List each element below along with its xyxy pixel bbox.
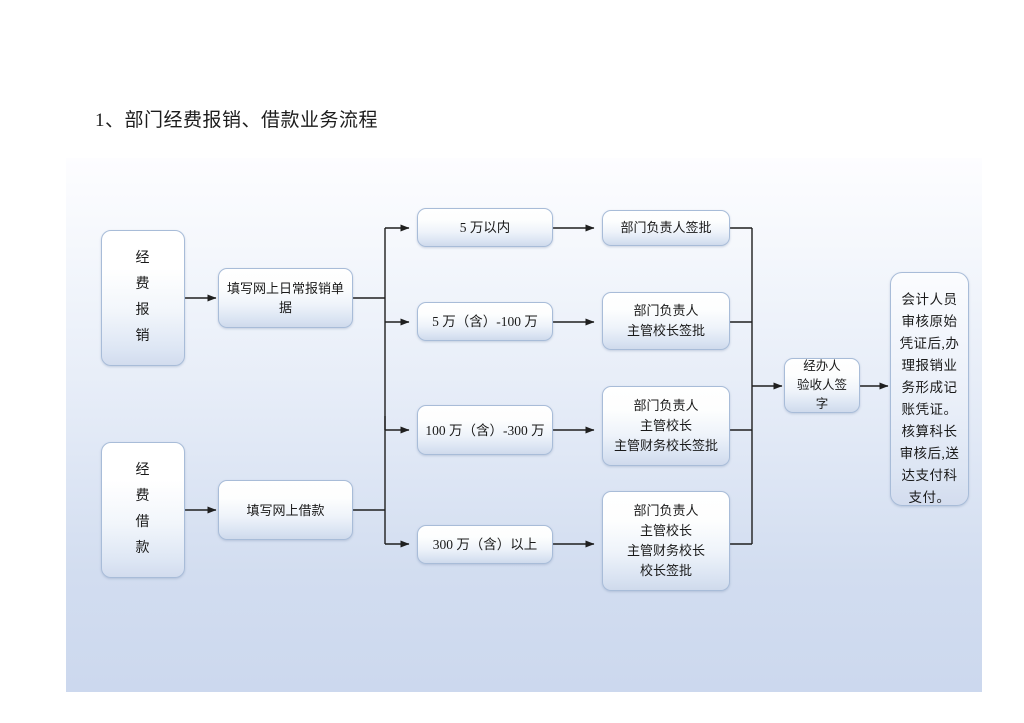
- node-approval-4[interactable]: 部门负责人主管校长主管财务校长校长签批: [602, 491, 730, 591]
- node-form-loan-label: 填写网上借款: [225, 501, 346, 520]
- node-approval-2[interactable]: 部门负责人主管校长签批: [602, 292, 730, 350]
- node-accounting[interactable]: 会计人员审核原始凭证后,办理报销业务形成记账凭证。核算科长审核后,送达支付科支付…: [890, 272, 969, 506]
- node-signoff-label: 经办人验收人签字: [791, 357, 853, 414]
- node-amount-1-label: 5 万以内: [424, 218, 546, 237]
- node-amount-3-label: 100 万（含）-300 万: [424, 421, 546, 440]
- node-form-reimburse[interactable]: 填写网上日常报销单据: [218, 268, 353, 328]
- node-start-reimburse-label: 经费报销: [108, 246, 178, 350]
- flowchart-canvas: 经费报销 经费借款 填写网上日常报销单据 填写网上借款 5 万以内 5 万（含）…: [66, 158, 982, 692]
- node-amount-4[interactable]: 300 万（含）以上: [417, 525, 553, 564]
- node-amount-3[interactable]: 100 万（含）-300 万: [417, 405, 553, 455]
- node-approval-4-label: 部门负责人主管校长主管财务校长校长签批: [609, 501, 723, 581]
- node-amount-2[interactable]: 5 万（含）-100 万: [417, 302, 553, 341]
- node-approval-1-label: 部门负责人签批: [609, 218, 723, 238]
- node-form-reimburse-label: 填写网上日常报销单据: [225, 279, 346, 317]
- node-amount-1[interactable]: 5 万以内: [417, 208, 553, 247]
- node-approval-3[interactable]: 部门负责人主管校长主管财务校长签批: [602, 386, 730, 466]
- node-amount-4-label: 300 万（含）以上: [424, 535, 546, 554]
- node-signoff[interactable]: 经办人验收人签字: [784, 358, 860, 413]
- node-start-loan[interactable]: 经费借款: [101, 442, 185, 578]
- node-start-loan-label: 经费借款: [108, 458, 178, 562]
- node-approval-2-label: 部门负责人主管校长签批: [609, 301, 723, 341]
- node-accounting-label: 会计人员审核原始凭证后,办理报销业务形成记账凭证。核算科长审核后,送达支付科支付…: [897, 275, 962, 509]
- page-title: 1、部门经费报销、借款业务流程: [95, 108, 378, 134]
- node-start-reimburse[interactable]: 经费报销: [101, 230, 185, 366]
- node-amount-2-label: 5 万（含）-100 万: [424, 312, 546, 331]
- node-approval-3-label: 部门负责人主管校长主管财务校长签批: [609, 396, 723, 456]
- node-approval-1[interactable]: 部门负责人签批: [602, 210, 730, 246]
- node-form-loan[interactable]: 填写网上借款: [218, 480, 353, 540]
